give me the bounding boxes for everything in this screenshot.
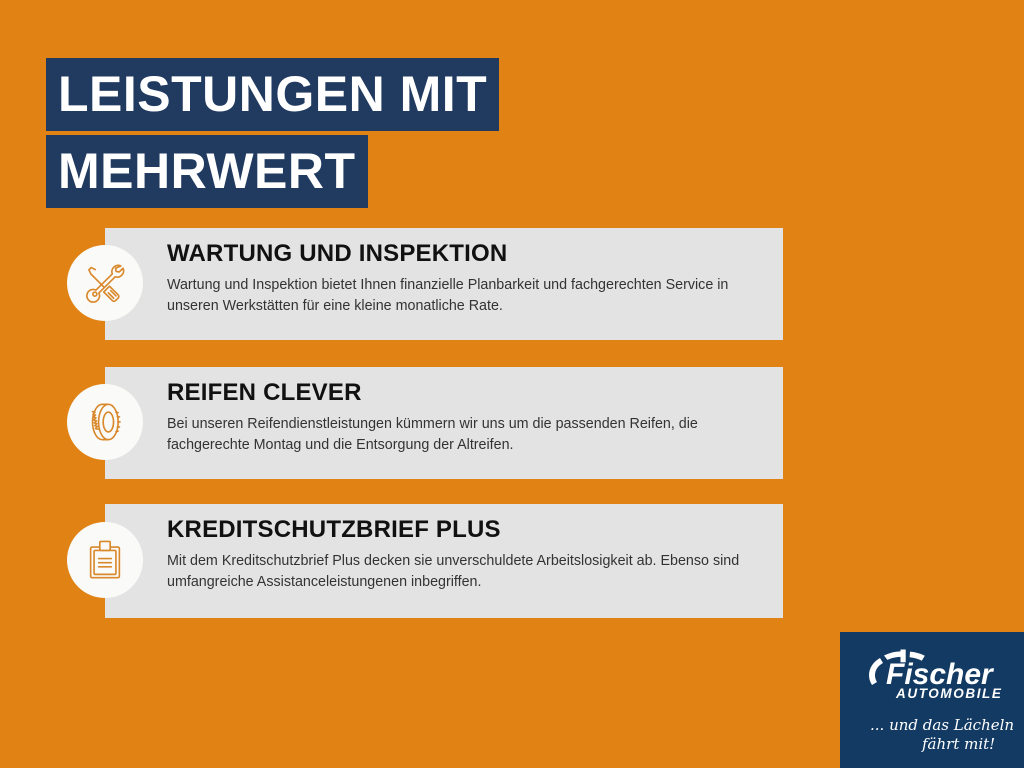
service-card-kreditschutzbrief-plus: KREDITSCHUTZBRIEF PLUS Mit dem Kreditsch… [105,504,783,618]
company-logo: Fischer AUTOMOBILE ... und das Lächeln f… [840,632,1024,768]
card-title: KREDITSCHUTZBRIEF PLUS [167,517,757,544]
fischer-automobile-logo-mark: Fischer AUTOMOBILE [854,646,1010,708]
card-title: WARTUNG UND INSPEKTION [167,241,757,268]
logo-tagline: ... und das Lächeln fährt mit! [864,710,1014,760]
wrench-screwdriver-icon [82,260,128,306]
card-icon-badge [67,384,143,460]
card-text-block: WARTUNG UND INSPEKTION Wartung und Inspe… [167,241,757,317]
clipboard-icon [82,537,128,583]
logo-tagline-line-1: ... und das Lächeln [870,716,1014,734]
tire-icon [82,399,128,445]
logo-subtitle-text: AUTOMOBILE [895,686,1003,701]
card-description: Bei unseren Reifendienstleistungen kümme… [167,414,757,456]
card-text-block: KREDITSCHUTZBRIEF PLUS Mit dem Kreditsch… [167,517,757,593]
logo-tagline-line-2: fährt mit! [921,735,995,753]
card-description: Wartung und Inspektion bietet Ihnen fina… [167,275,757,317]
card-description: Mit dem Kreditschutzbrief Plus decken si… [167,551,757,593]
service-card-wartung-und-inspektion: WARTUNG UND INSPEKTION Wartung und Inspe… [105,228,783,340]
card-icon-badge [67,245,143,321]
card-text-block: REIFEN CLEVER Bei unseren Reifendienstle… [167,380,757,456]
card-icon-badge [67,522,143,598]
service-card-reifen-clever: REIFEN CLEVER Bei unseren Reifendienstle… [105,367,783,479]
card-title: REIFEN CLEVER [167,380,757,407]
